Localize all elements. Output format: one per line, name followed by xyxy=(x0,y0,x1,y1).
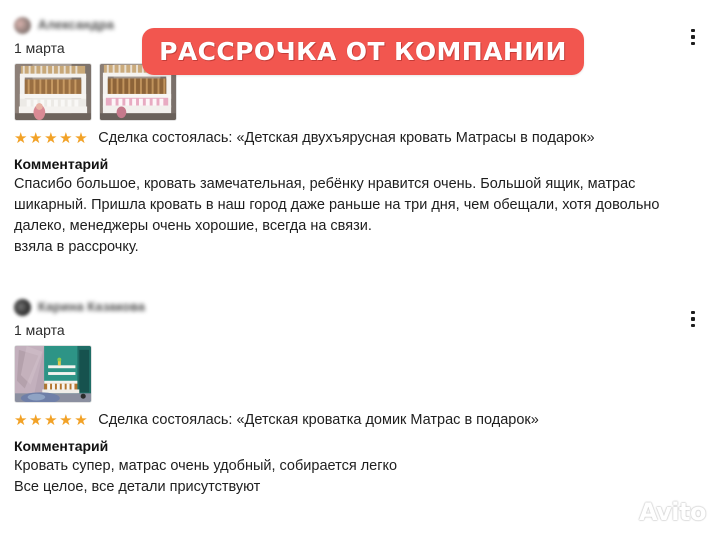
comment-paragraph: Кровать супер, матрас очень удобный, соб… xyxy=(14,456,674,477)
review-date: 1 марта xyxy=(14,322,706,338)
review-author-row: Карина Казакова xyxy=(14,296,706,318)
house-bed-photo-icon xyxy=(15,346,91,402)
avatar xyxy=(14,17,31,34)
promo-banner: РАССРОЧКА ОТ КОМПАНИИ xyxy=(142,28,584,75)
kebab-menu-icon[interactable] xyxy=(684,25,702,49)
kebab-dot xyxy=(691,311,695,315)
kebab-dot xyxy=(691,324,695,328)
review-author-name: Карина Казакова xyxy=(38,300,145,314)
comment-label: Комментарий xyxy=(14,438,706,454)
avito-watermark-label: Avito xyxy=(639,500,706,524)
comment-paragraph: Все целое, все детали присутствуют xyxy=(14,477,674,498)
review-deal-line: ★★★★★ Сделка состоялась: «Детская кроват… xyxy=(14,412,706,428)
avito-watermark: Avito xyxy=(615,500,706,524)
review-deal-line: ★★★★★ Сделка состоялась: «Детская двухъя… xyxy=(14,130,706,146)
bunk-bed-photo-icon xyxy=(15,64,91,120)
review-deal-text: Сделка состоялась: «Детская кроватка дом… xyxy=(98,412,539,428)
rating-stars: ★★★★★ xyxy=(14,131,89,146)
rating-stars: ★★★★★ xyxy=(14,413,89,428)
kebab-dot xyxy=(691,42,695,46)
avatar xyxy=(14,299,31,316)
promo-banner-text: РАССРОЧКА ОТ КОМПАНИИ xyxy=(159,37,567,66)
comment-body: Кровать супер, матрас очень удобный, соб… xyxy=(14,456,674,498)
comment-body: Спасибо большое, кровать замечательная, … xyxy=(14,174,674,258)
review-author-name: Александра xyxy=(38,18,114,32)
comment-paragraph: Спасибо большое, кровать замечательная, … xyxy=(14,174,674,237)
reviews-page: Александра 1 марта xyxy=(0,0,720,540)
review-photo-thumbnail[interactable] xyxy=(14,63,92,121)
review-deal-text: Сделка состоялась: «Детская двухъярусная… xyxy=(98,130,594,146)
avito-dots-logo-icon xyxy=(615,502,635,522)
kebab-dot xyxy=(691,317,695,321)
review-photo-gallery xyxy=(14,345,706,403)
review-photo-thumbnail[interactable] xyxy=(14,345,92,403)
kebab-menu-icon[interactable] xyxy=(684,307,702,331)
review-card: Карина Казакова 1 марта xyxy=(0,296,720,498)
comment-label: Комментарий xyxy=(14,156,706,172)
kebab-dot xyxy=(691,29,695,33)
kebab-dot xyxy=(691,35,695,39)
comment-paragraph: взяла в рассрочку. xyxy=(14,237,674,258)
